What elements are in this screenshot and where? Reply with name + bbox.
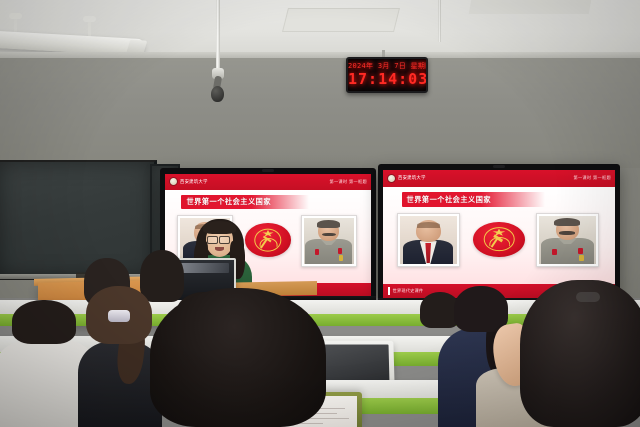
wall-upper: [0, 58, 640, 168]
presenter-mouth: [215, 247, 224, 251]
hammer-sickle-icon: [487, 236, 510, 252]
slide-logo: 西安建筑大学: [387, 174, 426, 183]
led-wall-clock: 2024年 3月 7日 星期四 17:14:03: [346, 57, 428, 93]
student-head: [520, 280, 640, 427]
hair-clip-icon: [108, 310, 130, 322]
hammer-and-sickle-emblem: [473, 222, 524, 257]
slide-logo: 西安建筑大学: [169, 177, 208, 186]
slide-title-text: 世界第一个社会主义国家: [181, 197, 271, 207]
slide-body: 世界第一个社会主义国家: [383, 187, 615, 284]
chalkboard: [0, 160, 157, 280]
slide-breadcrumb: 第一课时 第一框题: [329, 179, 367, 185]
slide-header: 西安建筑大学 第一课时 第一框题: [165, 174, 371, 190]
student-head: [454, 286, 508, 332]
university-seal-icon: [169, 177, 178, 186]
student-head: [150, 288, 326, 427]
university-seal-icon: [387, 174, 396, 183]
student-right-front: [520, 280, 640, 427]
tablet-screen: [321, 345, 390, 382]
ceiling-camera-icon: [211, 86, 224, 102]
medal-icon: [339, 255, 343, 261]
ceiling-tile-secondary: [469, 0, 591, 14]
light-mount: [83, 16, 96, 22]
student-center-front: [150, 288, 326, 427]
tv-camera-icon: [493, 165, 505, 168]
slide-photo-left: [397, 213, 460, 267]
slide-logo-text: 西安建筑大学: [398, 175, 426, 181]
glasses-icon: [219, 236, 230, 244]
ceiling-hanger-rod: [438, 0, 441, 42]
slide-breadcrumb: 第一课时 第一框题: [573, 175, 611, 181]
right-slide-surface: 西安建筑大学 第一课时 第一框题 世界第一个社会主义国家: [383, 170, 615, 298]
slide-title-text: 世界第一个社会主义国家: [402, 195, 492, 205]
slide-title-bar: 世界第一个社会主义国家: [402, 192, 546, 207]
hammer-sickle-icon: [258, 237, 279, 252]
portrait-military-uniform: [539, 216, 596, 264]
slide-title-bar: 世界第一个社会主义国家: [181, 195, 309, 209]
portrait-suit-red-tie: [400, 216, 457, 264]
hair-band-icon: [576, 292, 600, 302]
classroom-photo-scene: 2024年 3月 7日 星期四 17:14:03 西安建筑大学 第一课时 第一框…: [0, 0, 640, 427]
ceiling-tile: [282, 8, 400, 32]
slide-logo-text: 西安建筑大学: [180, 179, 208, 185]
portrait-military-uniform: [304, 218, 354, 264]
footer-tick: [388, 287, 390, 295]
medal-icon: [315, 249, 319, 255]
medal-icon: [338, 248, 342, 254]
tv-camera-icon: [262, 169, 274, 172]
slide-footer-text: 世界现代史课件: [393, 288, 424, 294]
presenter-fringe: [203, 221, 236, 234]
student-head: [12, 300, 76, 344]
light-mount: [9, 13, 22, 19]
slide-photo-right: [536, 213, 599, 267]
portrait-brow: [417, 222, 440, 228]
medal-icon: [579, 255, 584, 261]
slide-photo-right: [301, 215, 357, 267]
medal-icon: [578, 248, 583, 254]
glasses-icon: [207, 236, 218, 244]
portrait-mustache: [322, 233, 336, 237]
portrait-hair: [317, 220, 340, 228]
portrait-hair: [554, 218, 580, 226]
medal-icon: [552, 249, 557, 255]
ceiling: [0, 0, 640, 58]
slide-header: 西安建筑大学 第一课时 第一框题: [383, 170, 615, 187]
ceiling-camera-pole: [216, 0, 220, 72]
clock-time-text: 17:14:03: [348, 69, 426, 89]
